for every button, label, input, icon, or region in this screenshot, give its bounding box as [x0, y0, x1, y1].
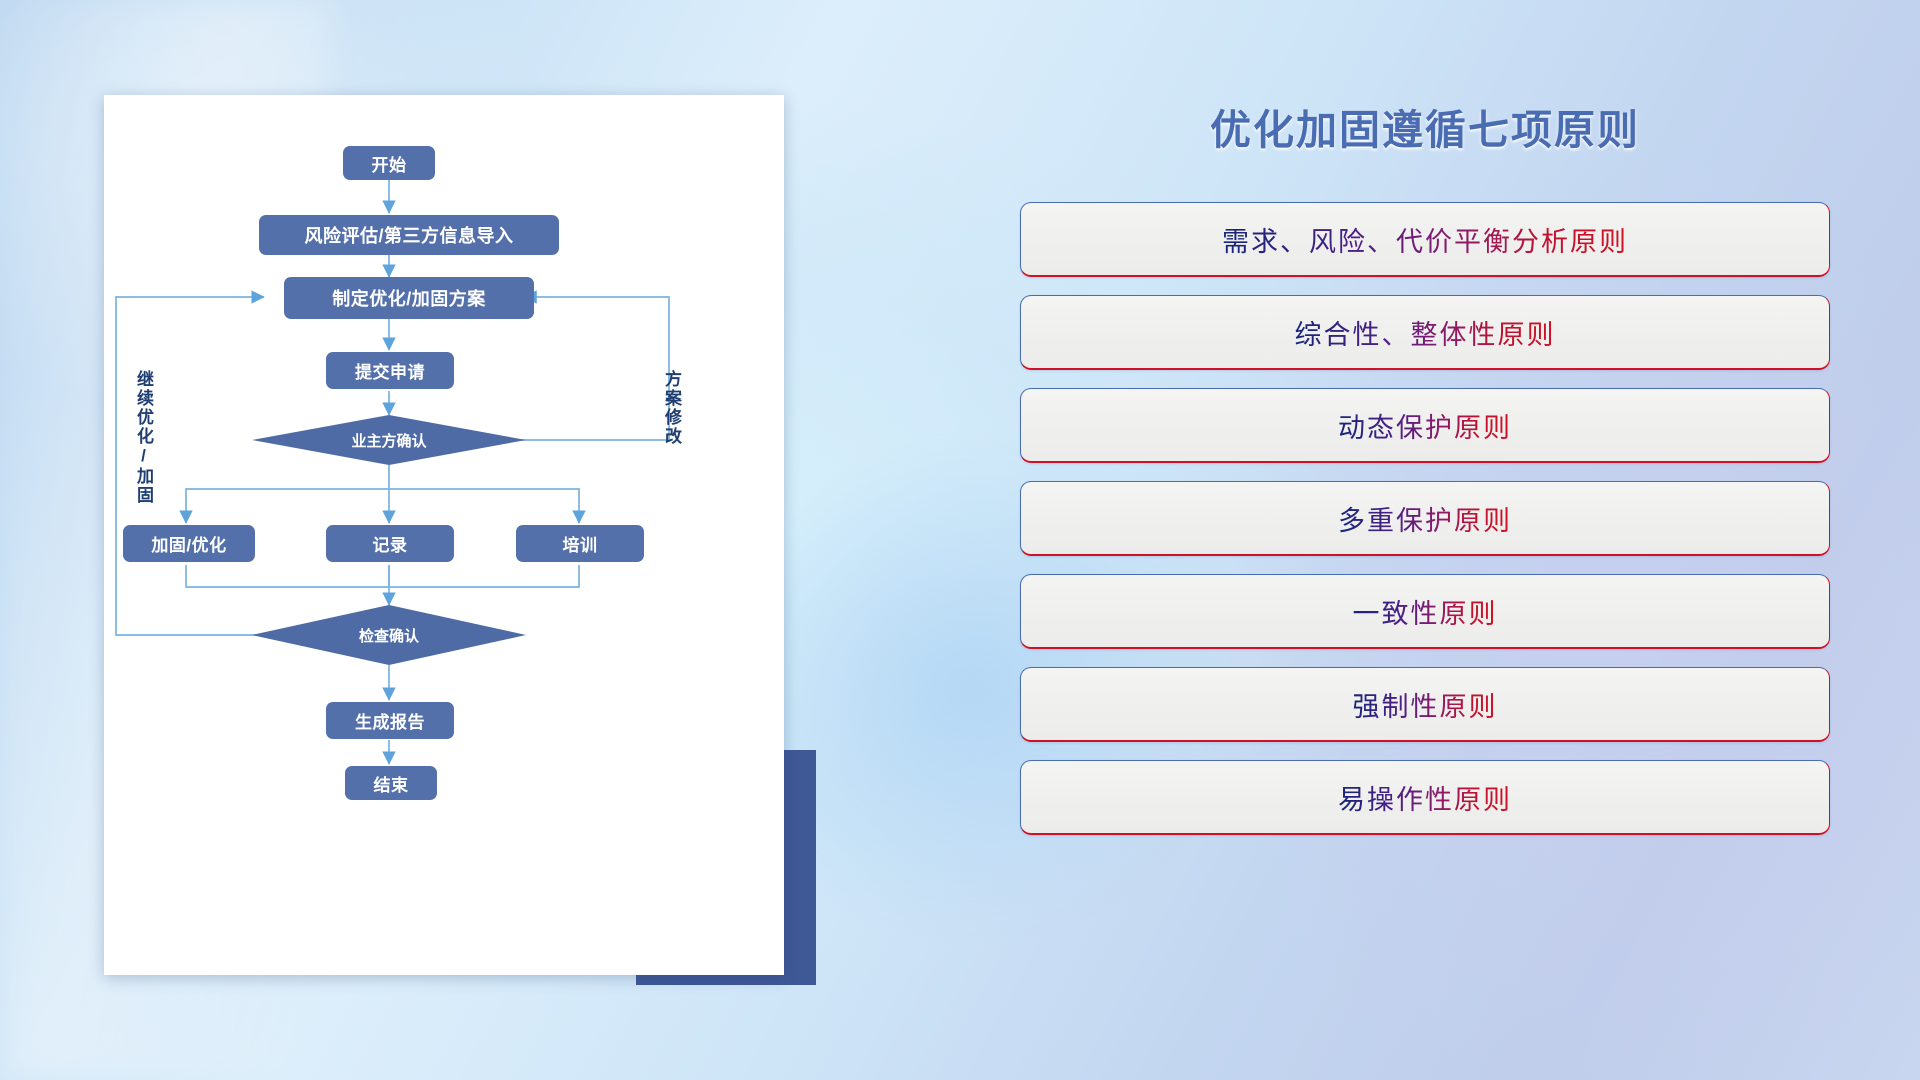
principle-label: 动态保护原则	[1338, 406, 1512, 445]
flow-node-record-label: 记录	[373, 531, 408, 556]
owner-text: 业主方确认	[351, 430, 426, 451]
flow-node-check-label: 检查确认	[329, 623, 449, 647]
principle-label: 易操作性原则	[1338, 778, 1512, 817]
flow-node-training[interactable]: 培训	[516, 525, 644, 562]
principle-item-2[interactable]: 综合性、整体性原则	[1020, 295, 1830, 370]
flow-node-submit-label: 提交申请	[355, 358, 425, 383]
principle-item-7[interactable]: 易操作性原则	[1020, 760, 1830, 835]
flow-node-report[interactable]: 生成报告	[326, 702, 454, 739]
principles-panel: 优化加固遵循七项原则 需求、风险、代价平衡分析原则 综合性、整体性原则 动态保护…	[1020, 96, 1830, 996]
flowchart: 开始 风险评估/第三方信息导入 制定优化/加固方案 提交申请 业主方确认 加固/…	[104, 95, 784, 975]
principle-label: 一致性原则	[1353, 592, 1498, 631]
flow-node-plan-label: 制定优化/加固方案	[332, 285, 486, 311]
flow-node-end-label: 结束	[374, 771, 409, 796]
principle-item-5[interactable]: 一致性原则	[1020, 574, 1830, 649]
principle-item-3[interactable]: 动态保护原则	[1020, 388, 1830, 463]
flow-node-record[interactable]: 记录	[326, 525, 454, 562]
principle-item-4[interactable]: 多重保护原则	[1020, 481, 1830, 556]
principle-item-6[interactable]: 强制性原则	[1020, 667, 1830, 742]
check-text: 检查确认	[359, 625, 419, 646]
flow-node-submit[interactable]: 提交申请	[326, 352, 454, 389]
flow-node-end[interactable]: 结束	[345, 766, 437, 800]
principle-item-1[interactable]: 需求、风险、代价平衡分析原则	[1020, 202, 1830, 277]
principle-label: 需求、风险、代价平衡分析原则	[1222, 220, 1628, 259]
flow-node-assess[interactable]: 风险评估/第三方信息导入	[259, 215, 559, 255]
flow-node-reinforce[interactable]: 加固/优化	[123, 525, 255, 562]
principle-label: 多重保护原则	[1338, 499, 1512, 538]
flow-node-plan[interactable]: 制定优化/加固方案	[284, 277, 534, 319]
principle-label: 强制性原则	[1353, 685, 1498, 724]
flow-node-training-label: 培训	[563, 531, 598, 556]
flow-node-owner-label: 业主方确认	[329, 428, 449, 452]
flow-edge-label-left: 继续优化/加固	[131, 370, 156, 505]
principle-label: 综合性、整体性原则	[1295, 313, 1556, 352]
panel-title: 优化加固遵循七项原则	[1020, 96, 1830, 156]
flow-node-reinforce-label: 加固/优化	[151, 531, 226, 556]
flow-node-start-label: 开始	[372, 151, 407, 176]
flow-edge-label-right: 方案修改	[659, 370, 684, 446]
flow-node-report-label: 生成报告	[355, 708, 425, 733]
flow-node-start[interactable]: 开始	[343, 146, 435, 180]
flow-node-assess-label: 风险评估/第三方信息导入	[305, 222, 514, 248]
